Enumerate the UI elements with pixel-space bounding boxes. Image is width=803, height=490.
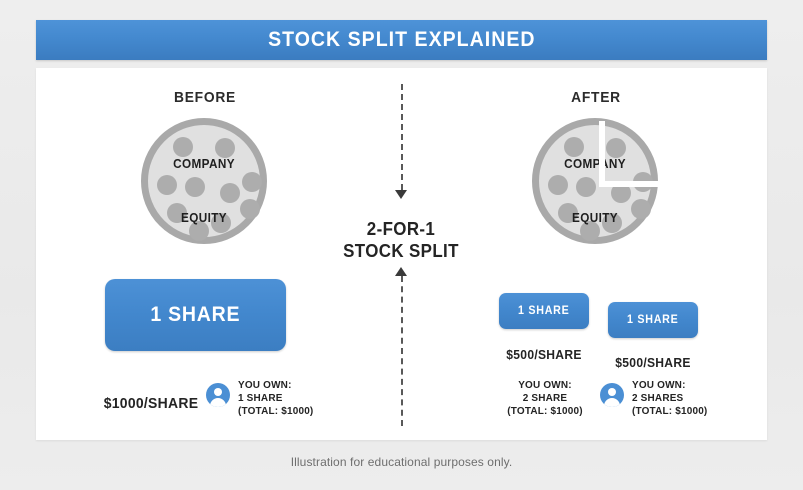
avatar-head [608,388,616,396]
after-share-button-2[interactable]: 1 SHARE [608,302,698,338]
before-ownership-line3: (TOTAL: $1000) [238,405,313,418]
user-avatar-icon [206,383,230,407]
after-share-button-1[interactable]: 1 SHARE [499,293,589,329]
center-caption-line1: 2-FOR-1 [367,219,435,239]
before-price-label: $1000/SHARE [100,395,202,412]
arrow-up-icon [395,267,407,276]
avatar-head [214,388,222,396]
split-divider-vertical [599,121,605,183]
after-ownership-2-line1: YOU OWN: [632,379,707,392]
after-share-button-2-label: 1 SHARE [627,314,679,326]
after-circle-label-company: COMPANY [542,157,647,171]
before-ownership-line2: 1 SHARE [238,392,313,405]
equity-dot [242,172,262,192]
infographic-canvas: STOCK SPLIT EXPLAINED BEFORE COMPANY EQU… [0,0,803,490]
before-circle-label-equity: EQUITY [151,211,256,225]
title-bar: STOCK SPLIT EXPLAINED [36,20,767,60]
after-price-label-1: $500/SHARE [493,347,595,362]
arrow-down-icon [395,190,407,199]
equity-dot [185,177,205,197]
center-caption: 2-FOR-1 STOCK SPLIT [335,218,467,262]
avatar-body [210,398,226,408]
split-divider-horizontal [599,181,665,187]
after-ownership-2-line2: 2 SHARES [632,392,707,405]
page-title: STOCK SPLIT EXPLAINED [268,28,535,52]
after-circle-label-equity: EQUITY [542,211,647,225]
center-dashed-line-bottom [401,276,403,426]
after-ownership-1-line1: YOU OWN: [502,379,588,392]
after-ownership-2-line3: (TOTAL: $1000) [632,405,707,418]
equity-dot [564,137,584,157]
equity-dot [548,175,568,195]
before-company-equity-circle: COMPANY EQUITY [141,118,267,244]
after-column-heading: AFTER [541,89,651,106]
before-circle-label-company: COMPANY [151,157,256,171]
before-ownership-block: YOU OWN: 1 SHARE (TOTAL: $1000) [238,379,313,418]
after-ownership-block-2: YOU OWN: 2 SHARES (TOTAL: $1000) [632,379,707,418]
equity-dot [220,183,240,203]
after-company-equity-circle: COMPANY EQUITY [532,118,658,244]
before-share-button-label: 1 SHARE [151,303,241,327]
equity-dot [173,137,193,157]
before-ownership-line1: YOU OWN: [238,379,313,392]
center-dashed-line-top [401,84,403,190]
equity-dot [606,138,626,158]
equity-dot [157,175,177,195]
center-caption-line2: STOCK SPLIT [343,241,459,261]
footer-disclaimer: Illustration for educational purposes on… [0,455,803,469]
after-ownership-block-1: YOU OWN: 2 SHARE (TOTAL: $1000) [502,379,588,418]
avatar-body [604,398,620,408]
after-share-button-1-label: 1 SHARE [518,305,570,317]
user-avatar-icon [600,383,624,407]
before-share-button[interactable]: 1 SHARE [105,279,286,351]
equity-dot [215,138,235,158]
after-ownership-1-line3: (TOTAL: $1000) [502,405,588,418]
equity-dot [576,177,596,197]
after-ownership-1-line2: 2 SHARE [502,392,588,405]
after-price-label-2: $500/SHARE [602,355,704,370]
before-column-heading: BEFORE [150,89,260,106]
